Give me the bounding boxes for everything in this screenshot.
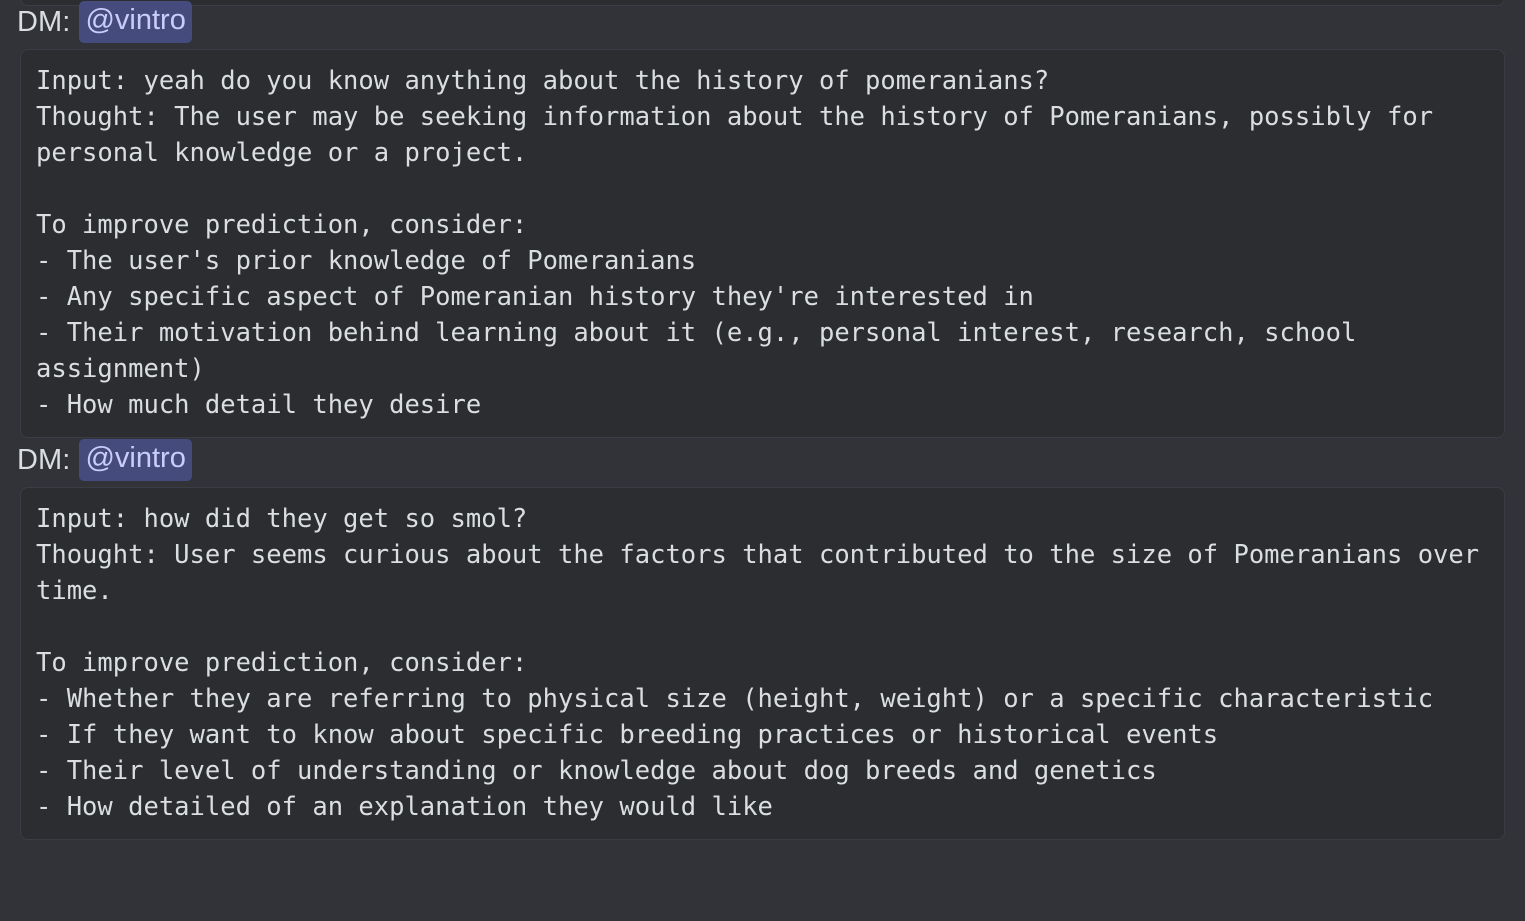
message-item: DM: @vintro Input: yeah do you know anyt…	[0, 0, 1525, 438]
message-item: DM: @vintro Input: how did they get so s…	[0, 438, 1525, 840]
user-mention-pill[interactable]: @vintro	[79, 439, 191, 481]
dm-label: DM:	[17, 8, 70, 37]
code-block-text: Input: yeah do you know anything about t…	[36, 63, 1489, 423]
code-block: Input: yeah do you know anything about t…	[20, 49, 1505, 438]
dm-header: DM: @vintro	[0, 438, 1525, 482]
code-block-text: Input: how did they get so smol? Thought…	[36, 501, 1489, 825]
message-feed: DM: @vintro Input: yeah do you know anyt…	[0, 0, 1525, 840]
dm-label: DM:	[17, 446, 70, 475]
code-block: Input: how did they get so smol? Thought…	[20, 487, 1505, 840]
user-mention-pill[interactable]: @vintro	[79, 1, 191, 43]
dm-header: DM: @vintro	[0, 0, 1525, 44]
